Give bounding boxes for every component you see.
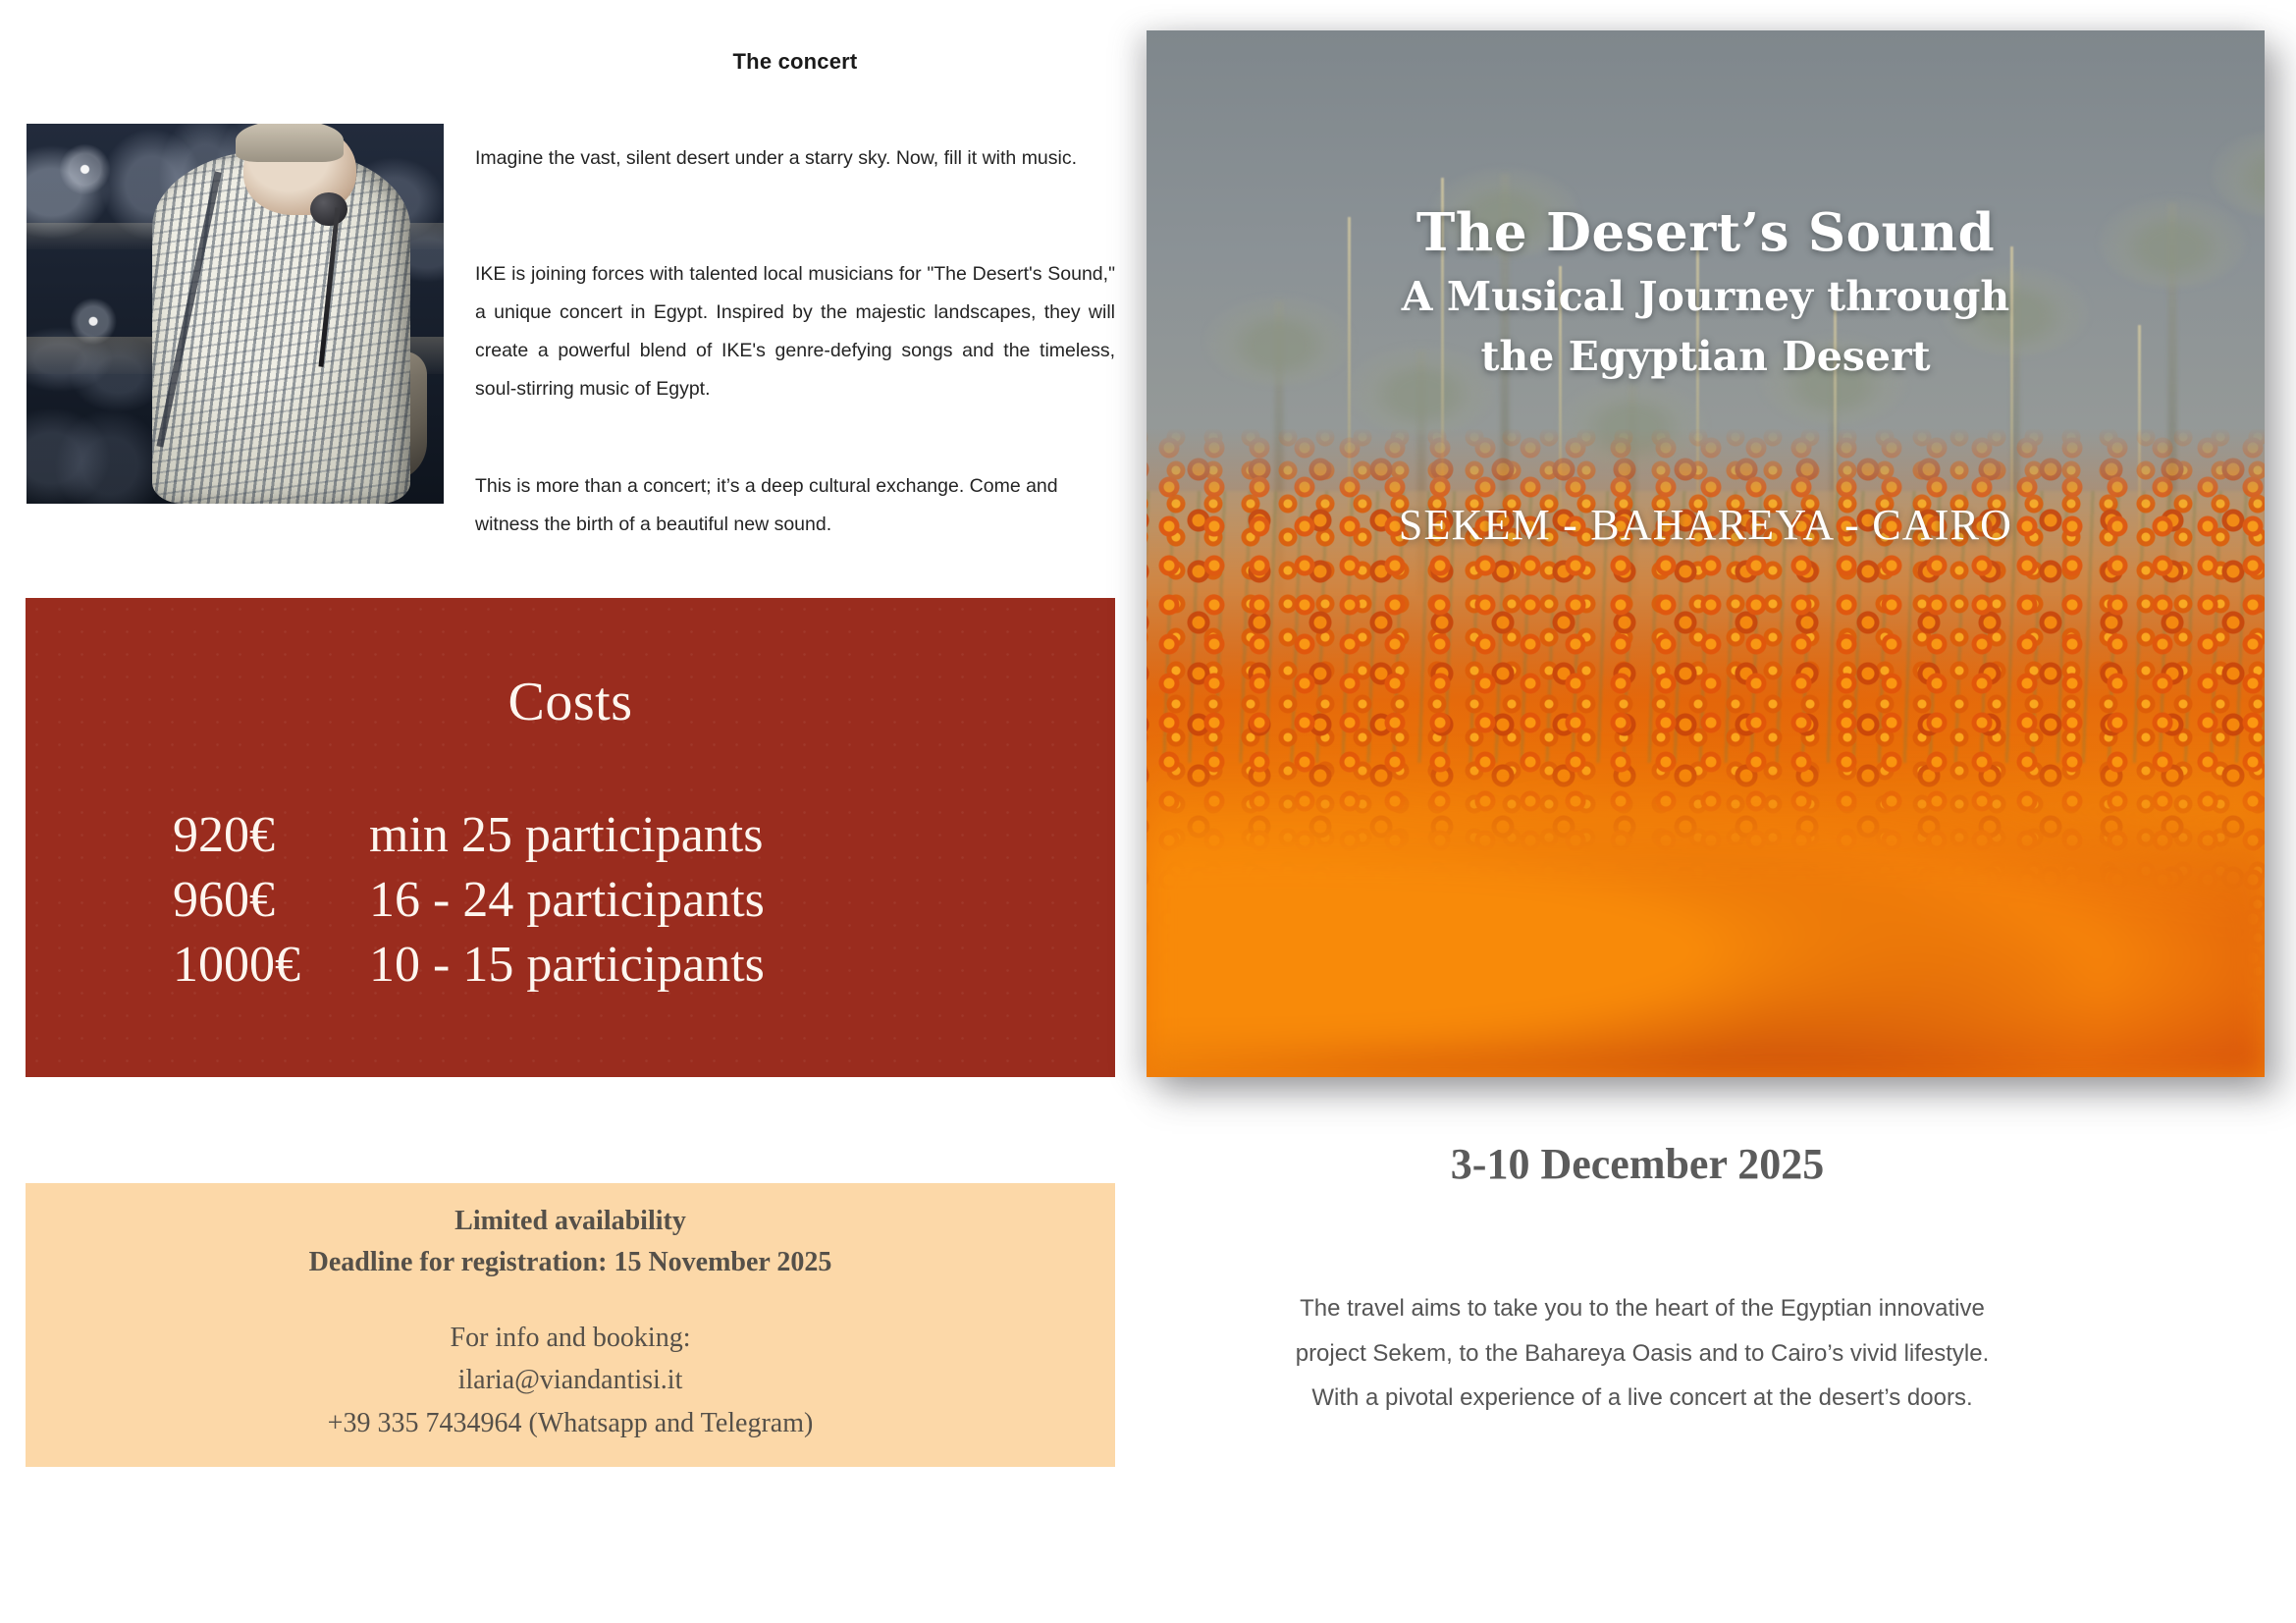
concert-paragraph-2: IKE is joining forces with talented loca… [475,255,1115,408]
booking-block: For info and booking: ilaria@viandantisi… [26,1317,1115,1444]
availability-label: Limited availability [26,1201,1115,1242]
contact-phone[interactable]: +39 335 7434964 (Whatsapp and Telegram) [26,1402,1115,1444]
concert-paragraph-3: This is more than a concert; it’s a deep… [475,467,1115,544]
poster-image: The Desert’s Sound A Musical Journey thr… [1147,30,2265,1077]
costs-title: Costs [26,675,1115,730]
brochure-page: The concert Imagine the vast, silent des… [0,0,2296,1623]
musician-hair [236,124,345,162]
travel-description: The travel aims to take you to the heart… [1147,1286,2138,1421]
cost-price: 1000€ [173,940,369,991]
costs-table: 920€ min 25 participants 960€ 16 - 24 pa… [173,810,1017,1004]
poster-title-line3: the Egyptian Desert [1147,333,2265,380]
contact-email[interactable]: ilaria@viandantisi.it [26,1359,1115,1401]
poster-title: The Desert’s Sound A Musical Journey thr… [1147,205,2265,380]
cost-description: min 25 participants [369,810,763,861]
page-title: The concert [475,49,1115,75]
cost-price: 960€ [173,875,369,926]
foreground-blur-flowers [1147,763,2265,1077]
contact-panel: Limited availability Deadline for regist… [26,1183,1115,1467]
costs-panel: Costs 920€ min 25 participants 960€ 16 -… [26,598,1115,1077]
travel-date: 3-10 December 2025 [1147,1139,2128,1189]
concert-photo [27,124,444,504]
left-column: The concert Imagine the vast, silent des… [0,0,1148,1623]
cost-row: 1000€ 10 - 15 participants [173,940,1017,1004]
poster-title-line2: A Musical Journey through [1147,273,2265,320]
availability-block: Limited availability Deadline for regist… [26,1201,1115,1283]
cost-description: 16 - 24 participants [369,875,765,926]
poster-cities: SEKEM - BAHAREYA - CAIRO [1147,500,2265,550]
deadline-label: Deadline for registration: 15 November 2… [26,1242,1115,1283]
travel-description-line1: The travel aims to take you to the heart… [1147,1286,2138,1331]
cost-description: 10 - 15 participants [369,940,765,991]
concert-paragraph-1: Imagine the vast, silent desert under a … [475,139,1115,178]
poster-canvas: The Desert’s Sound A Musical Journey thr… [1147,30,2265,1077]
cost-row: 920€ min 25 participants [173,810,1017,875]
cost-row: 960€ 16 - 24 participants [173,875,1017,940]
cost-price: 920€ [173,810,369,861]
travel-description-line2: project Sekem, to the Bahareya Oasis and… [1147,1331,2138,1377]
poster-title-line1: The Desert’s Sound [1147,205,2265,261]
travel-description-line3: With a pivotal experience of a live conc… [1147,1376,2138,1421]
booking-label: For info and booking: [26,1317,1115,1359]
